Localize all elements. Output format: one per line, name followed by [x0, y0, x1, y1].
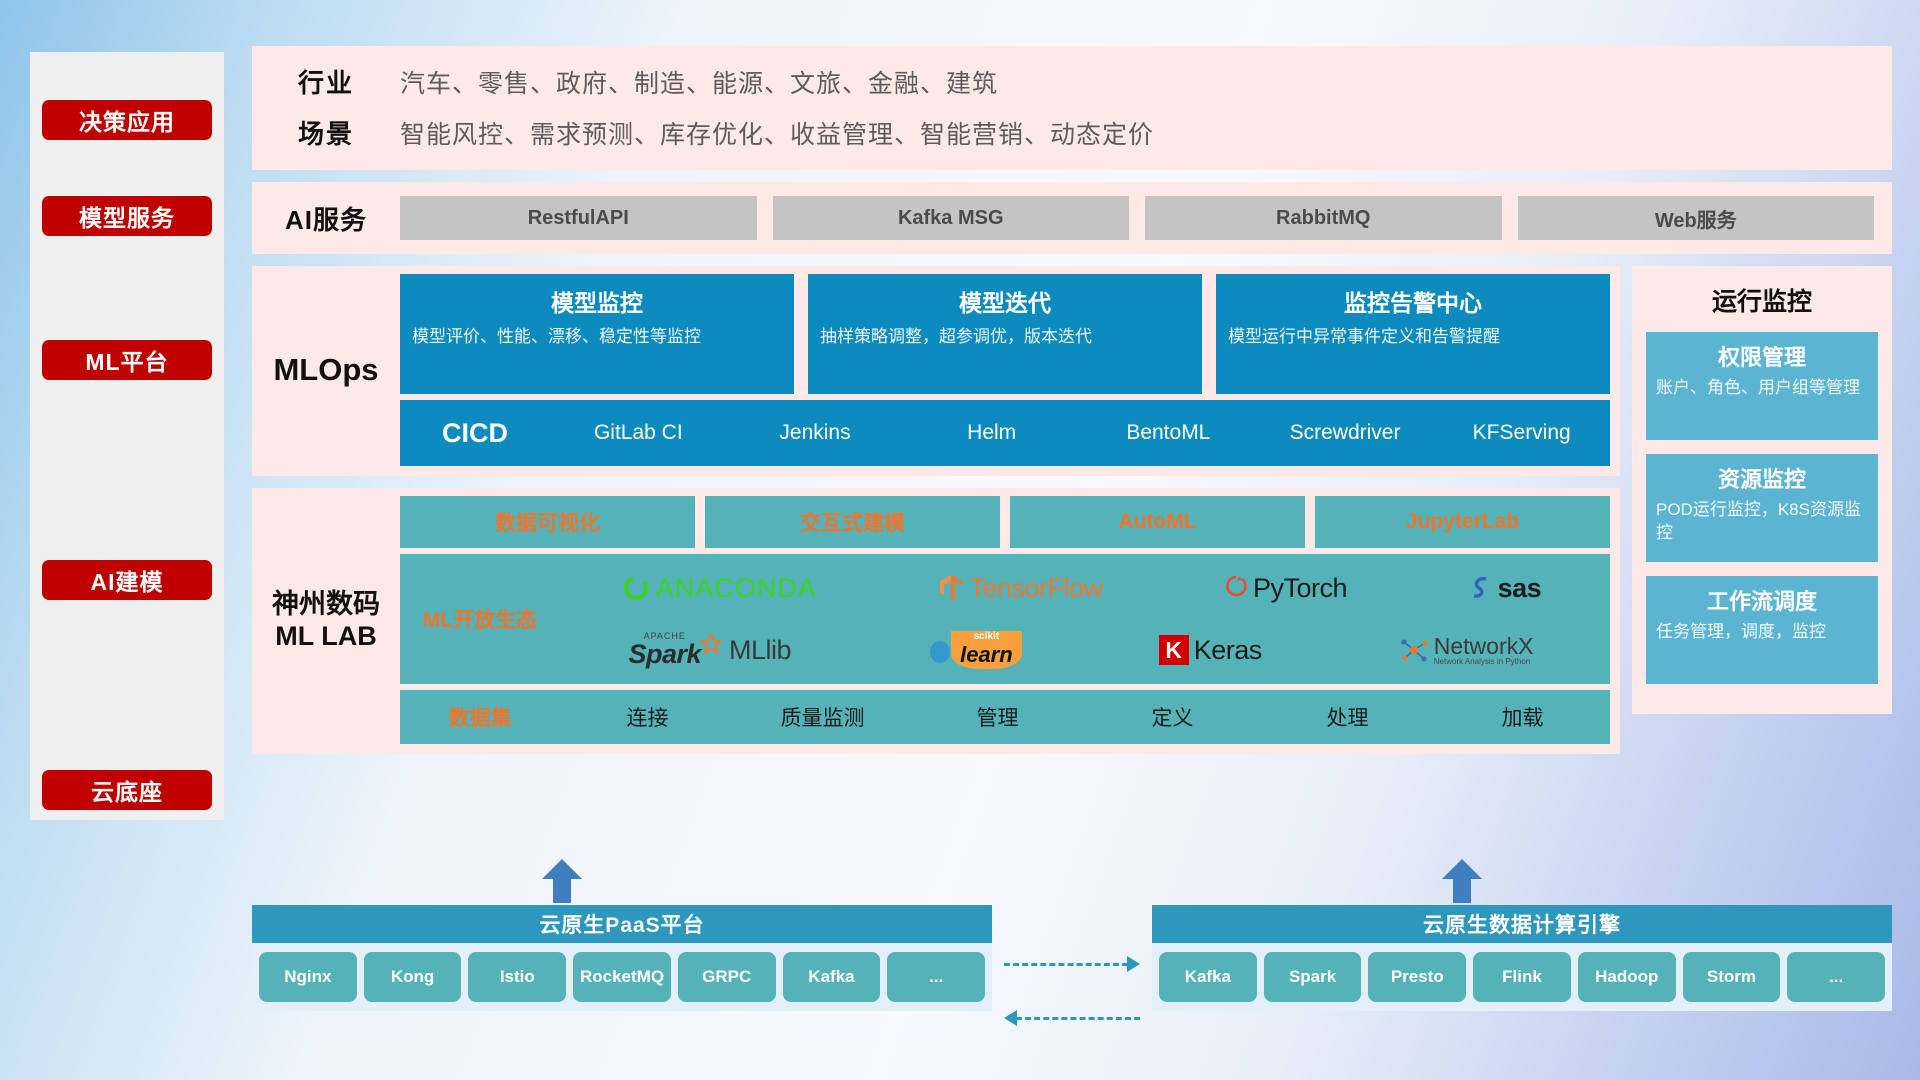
service-box-restfulapi[interactable]: RestfulAPI: [400, 196, 757, 240]
sas-glyph: [1469, 574, 1493, 602]
anaconda-logo: ANACONDA: [621, 573, 817, 604]
ml-lab-label-line1: 神州数码: [272, 588, 380, 620]
engine-chip-more[interactable]: ...: [1787, 952, 1885, 1002]
scenario-value: 智能风控、需求预测、库存优化、收益管理、智能营销、动态定价: [400, 115, 1154, 151]
lab-tab-data-visualization[interactable]: 数据可视化: [400, 496, 695, 548]
engine-chip-flink[interactable]: Flink: [1473, 952, 1571, 1002]
mlops-label: MLOps: [252, 274, 400, 466]
rail-label: 模型服务: [79, 199, 175, 233]
card-desc: POD运行监控，K8S资源监控: [1656, 499, 1868, 545]
rail-label: AI建模: [91, 563, 164, 597]
ml-lab-band: 神州数码 ML LAB 数据可视化 交互式建模 AutoML JupyterLa…: [252, 488, 1620, 754]
anaconda-glyph: [621, 573, 651, 603]
cloud-base-region: 云原生PaaS平台 Nginx Kong Istio RocketMQ GRPC…: [252, 905, 1892, 1050]
cicd-item-bentoml[interactable]: BentoML: [1080, 422, 1257, 444]
cicd-item-kfserving[interactable]: KFServing: [1433, 422, 1610, 444]
stack-layer-rail: 决策应用 模型服务 ML平台 AI建模 云底座: [30, 52, 224, 820]
cloud-paas-title: 云原生PaaS平台: [252, 905, 992, 943]
engine-chip-spark[interactable]: Spark: [1264, 952, 1362, 1002]
card-title: 权限管理: [1656, 340, 1868, 372]
ai-service-label: AI服务: [252, 200, 400, 237]
arrow-left-icon: [1004, 1017, 1140, 1019]
ml-lab-label: 神州数码 ML LAB: [252, 496, 400, 744]
architecture-main: 行业 汽车、零售、政府、制造、能源、文旅、金融、建筑 场景 智能风控、需求预测、…: [252, 46, 1892, 766]
networkx-graph-icon: [1399, 636, 1429, 664]
cloud-engine-group: 云原生数据计算引擎 Kafka Spark Presto Flink Hadoo…: [1152, 905, 1892, 1050]
lab-tab-automl[interactable]: AutoML: [1010, 496, 1305, 548]
card-desc: 任务管理，调度，监控: [1656, 621, 1868, 644]
paas-chip-istio[interactable]: Istio: [468, 952, 566, 1002]
dataset-item-manage[interactable]: 管理: [910, 702, 1085, 732]
spark-logo: APACHE Spark MLlib: [629, 632, 792, 668]
sas-logo: sas: [1469, 573, 1542, 604]
engine-chip-hadoop[interactable]: Hadoop: [1578, 952, 1676, 1002]
up-arrow-paas-icon: [542, 859, 582, 903]
monitor-card-permission[interactable]: 权限管理 账户、角色、用户组等管理: [1646, 332, 1878, 440]
rail-item-cloud-base[interactable]: 云底座: [42, 770, 212, 810]
ml-lab-label-line2: ML LAB: [275, 620, 377, 652]
lab-tab-interactive-modeling[interactable]: 交互式建模: [705, 496, 1000, 548]
rail-item-ml-platform[interactable]: ML平台: [42, 340, 212, 380]
paas-chip-more[interactable]: ...: [887, 952, 985, 1002]
card-desc: 账户、角色、用户组等管理: [1656, 377, 1868, 400]
arrow-right-icon: [1004, 963, 1140, 965]
card-desc: 模型评价、性能、漂移、稳定性等监控: [412, 325, 782, 349]
application-band: 行业 汽车、零售、政府、制造、能源、文旅、金融、建筑 场景 智能风控、需求预测、…: [252, 46, 1892, 170]
mlops-card-alert-center[interactable]: 监控告警中心 模型运行中异常事件定义和告警提醒: [1216, 274, 1610, 394]
cicd-item-helm[interactable]: Helm: [903, 422, 1080, 444]
paas-chip-nginx[interactable]: Nginx: [259, 952, 357, 1002]
cicd-bar: CICD GitLab CI Jenkins Helm BentoML Scre…: [400, 400, 1610, 466]
cloud-paas-group: 云原生PaaS平台 Nginx Kong Istio RocketMQ GRPC…: [252, 905, 992, 1050]
rail-label: 决策应用: [79, 103, 175, 137]
mllib-logo-text: MLlib: [729, 635, 791, 666]
monitor-card-resource[interactable]: 资源监控 POD运行监控，K8S资源监控: [1646, 454, 1878, 562]
paas-chip-grpc[interactable]: GRPC: [678, 952, 776, 1002]
rail-item-model-service[interactable]: 模型服务: [42, 196, 212, 236]
dataset-item-load[interactable]: 加载: [1435, 702, 1610, 732]
bidirectional-link: [992, 905, 1152, 1050]
dataset-item-quality[interactable]: 质量监测: [735, 702, 910, 732]
mlops-card-model-monitoring[interactable]: 模型监控 模型评价、性能、漂移、稳定性等监控: [400, 274, 794, 394]
rail-label: ML平台: [85, 343, 168, 377]
rail-label: 云底座: [91, 773, 163, 807]
lab-tab-jupyterlab[interactable]: JupyterLab: [1315, 496, 1610, 548]
networkx-logo: NetworkX Network Analysis in Python: [1399, 634, 1534, 667]
service-box-web-service[interactable]: Web服务: [1518, 196, 1875, 240]
mlops-band: MLOps 模型监控 模型评价、性能、漂移、稳定性等监控 模型迭代 抽样策略调整…: [252, 266, 1620, 476]
engine-chip-presto[interactable]: Presto: [1368, 952, 1466, 1002]
anaconda-logo-text: ANACONDA: [656, 573, 817, 604]
cicd-item-jenkins[interactable]: Jenkins: [727, 422, 904, 444]
spark-logo-text: Spark: [629, 641, 702, 668]
networkx-logo-text: NetworkX: [1434, 634, 1534, 658]
keras-logo-text: Keras: [1194, 635, 1262, 666]
paas-chip-rocketmq[interactable]: RocketMQ: [573, 952, 671, 1002]
rail-item-decision-app[interactable]: 决策应用: [42, 100, 212, 140]
dataset-item-process[interactable]: 处理: [1260, 702, 1435, 732]
pytorch-glyph: [1224, 573, 1248, 603]
runtime-monitor-band: 运行监控 权限管理 账户、角色、用户组等管理 资源监控 POD运行监控，K8S资…: [1632, 266, 1892, 714]
scikit-learn-logo-text: learn: [960, 643, 1013, 666]
pytorch-logo: PyTorch: [1224, 573, 1347, 604]
scikit-learn-logo: scikit learn: [928, 631, 1022, 669]
card-title: 资源监控: [1656, 462, 1868, 494]
dataset-item-define[interactable]: 定义: [1085, 702, 1260, 732]
cicd-item-screwdriver[interactable]: Screwdriver: [1257, 422, 1434, 444]
tensorflow-logo-text: TensorFlow: [969, 573, 1102, 604]
runtime-monitor-title: 运行监控: [1646, 282, 1878, 318]
pytorch-logo-text: PyTorch: [1253, 573, 1347, 604]
rail-item-ai-modeling[interactable]: AI建模: [42, 560, 212, 600]
scenario-label: 场景: [252, 114, 400, 151]
industry-row: 行业 汽车、零售、政府、制造、能源、文旅、金融、建筑: [252, 63, 1892, 100]
networkx-logo-sub: Network Analysis in Python: [1434, 658, 1534, 666]
monitor-card-workflow[interactable]: 工作流调度 任务管理，调度，监控: [1646, 576, 1878, 684]
card-title: 模型迭代: [820, 284, 1190, 318]
scenario-row: 场景 智能风控、需求预测、库存优化、收益管理、智能营销、动态定价: [252, 114, 1892, 151]
paas-chip-kong[interactable]: Kong: [364, 952, 462, 1002]
paas-chip-kafka[interactable]: Kafka: [783, 952, 881, 1002]
cloud-engine-title: 云原生数据计算引擎: [1152, 905, 1892, 943]
industry-label: 行业: [252, 63, 400, 100]
ai-service-band: AI服务 RestfulAPI Kafka MSG RabbitMQ Web服务: [252, 182, 1892, 254]
cicd-label: CICD: [400, 418, 550, 449]
service-box-rabbitmq[interactable]: RabbitMQ: [1145, 196, 1502, 240]
keras-logo: K Keras: [1159, 635, 1262, 666]
card-title: 工作流调度: [1656, 584, 1868, 616]
sas-logo-text: sas: [1498, 573, 1542, 604]
mid-region: MLOps 模型监控 模型评价、性能、漂移、稳定性等监控 模型迭代 抽样策略调整…: [252, 266, 1892, 766]
service-box-kafka-msg[interactable]: Kafka MSG: [773, 196, 1130, 240]
engine-chip-storm[interactable]: Storm: [1683, 952, 1781, 1002]
keras-k-icon: K: [1159, 635, 1189, 665]
industry-value: 汽车、零售、政府、制造、能源、文旅、金融、建筑: [400, 64, 998, 100]
engine-chip-kafka[interactable]: Kafka: [1159, 952, 1257, 1002]
ml-open-ecosystem-label: ML开放生态: [400, 604, 560, 634]
dataset-label: 数据集: [400, 702, 560, 732]
dataset-bar: 数据集 连接 质量监测 管理 定义 处理 加载: [400, 690, 1610, 744]
spark-star-icon: [700, 633, 722, 655]
ml-open-ecosystem: ML开放生态 ANACONDA: [400, 554, 1610, 684]
tensorflow-glyph: [938, 573, 964, 603]
up-arrow-engine-icon: [1442, 859, 1482, 903]
card-title: 监控告警中心: [1228, 284, 1598, 318]
cicd-item-gitlab-ci[interactable]: GitLab CI: [550, 422, 727, 444]
mlops-card-model-iteration[interactable]: 模型迭代 抽样策略调整，超参调优，版本迭代: [808, 274, 1202, 394]
dataset-item-connect[interactable]: 连接: [560, 702, 735, 732]
card-title: 模型监控: [412, 284, 782, 318]
card-desc: 模型运行中异常事件定义和告警提醒: [1228, 325, 1598, 349]
card-desc: 抽样策略调整，超参调优，版本迭代: [820, 325, 1190, 349]
tensorflow-logo: TensorFlow: [938, 573, 1102, 604]
